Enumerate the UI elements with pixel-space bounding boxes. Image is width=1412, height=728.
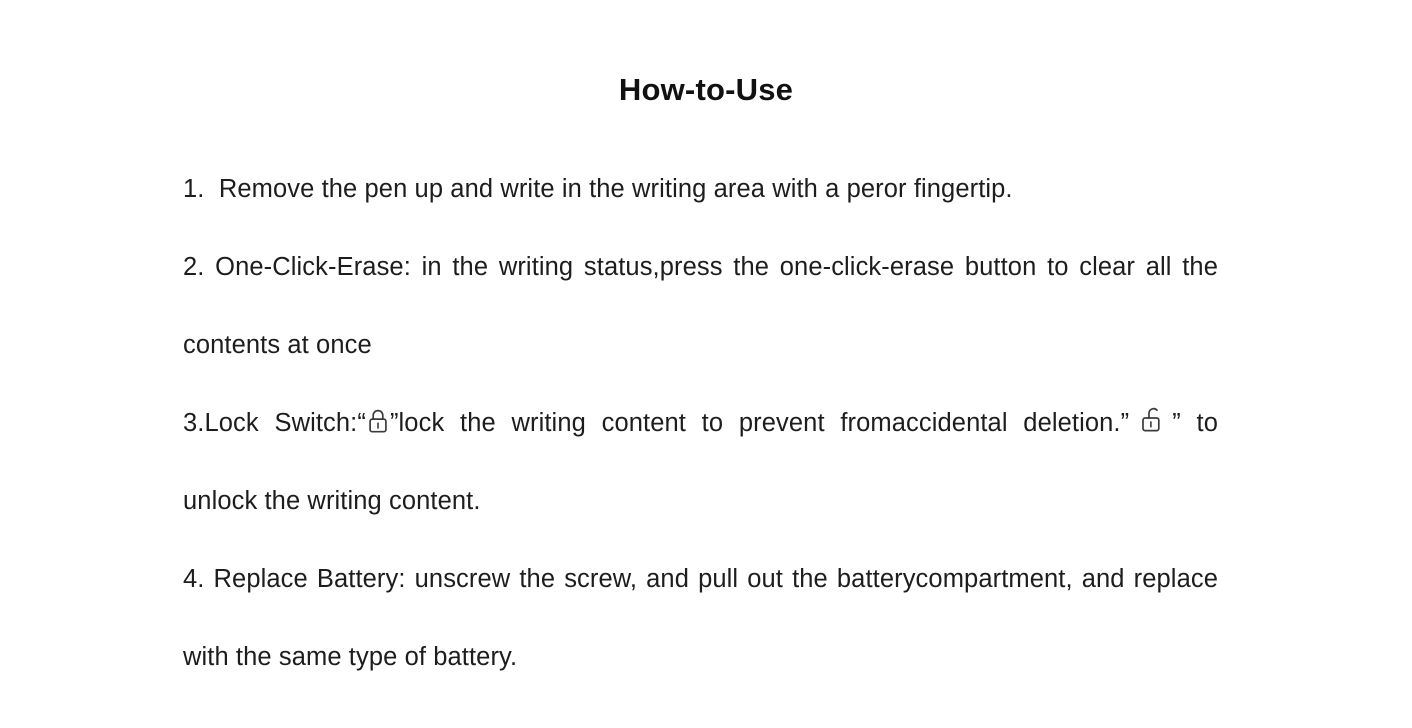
step-4-text: 4. Replace Battery: unscrew the screw, a… — [183, 565, 1218, 671]
step-1-number: 1. — [183, 175, 204, 203]
step-3-spacer — [1181, 409, 1197, 437]
page-title: How-to-Use — [0, 72, 1412, 108]
step-3-label: 3.Lock Switch: — [183, 409, 357, 437]
step-3-close-quote: ” — [1121, 409, 1130, 437]
lock-open-icon — [1139, 405, 1165, 435]
step-1-gap — [204, 175, 218, 203]
step-2-text: 2. One-Click-Erase: in the writing statu… — [183, 253, 1218, 359]
lock-closed-icon — [367, 408, 389, 434]
step-3-open-quote: “ — [357, 409, 366, 437]
list-item-step-1: 1. Remove the pen up and write in the wr… — [183, 150, 1218, 228]
list-item-step-2: 2. One-Click-Erase: in the writing statu… — [183, 228, 1218, 384]
step-3-open-quote-2: ” — [1172, 409, 1181, 437]
list-item-step-4: 4. Replace Battery: unscrew the screw, a… — [183, 540, 1218, 696]
instruction-list: 1. Remove the pen up and write in the wr… — [183, 150, 1218, 696]
step-3-quote-after-lock: ” — [390, 409, 399, 437]
document-page: How-to-Use 1. Remove the pen up and writ… — [0, 0, 1412, 728]
step-3-middle-text: lock the writing content to prevent from… — [399, 409, 1121, 437]
step-1-text: Remove the pen up and write in the writi… — [219, 175, 1013, 203]
list-item-step-3: 3.Lock Switch:“ ”lock the writing conten… — [183, 384, 1218, 540]
